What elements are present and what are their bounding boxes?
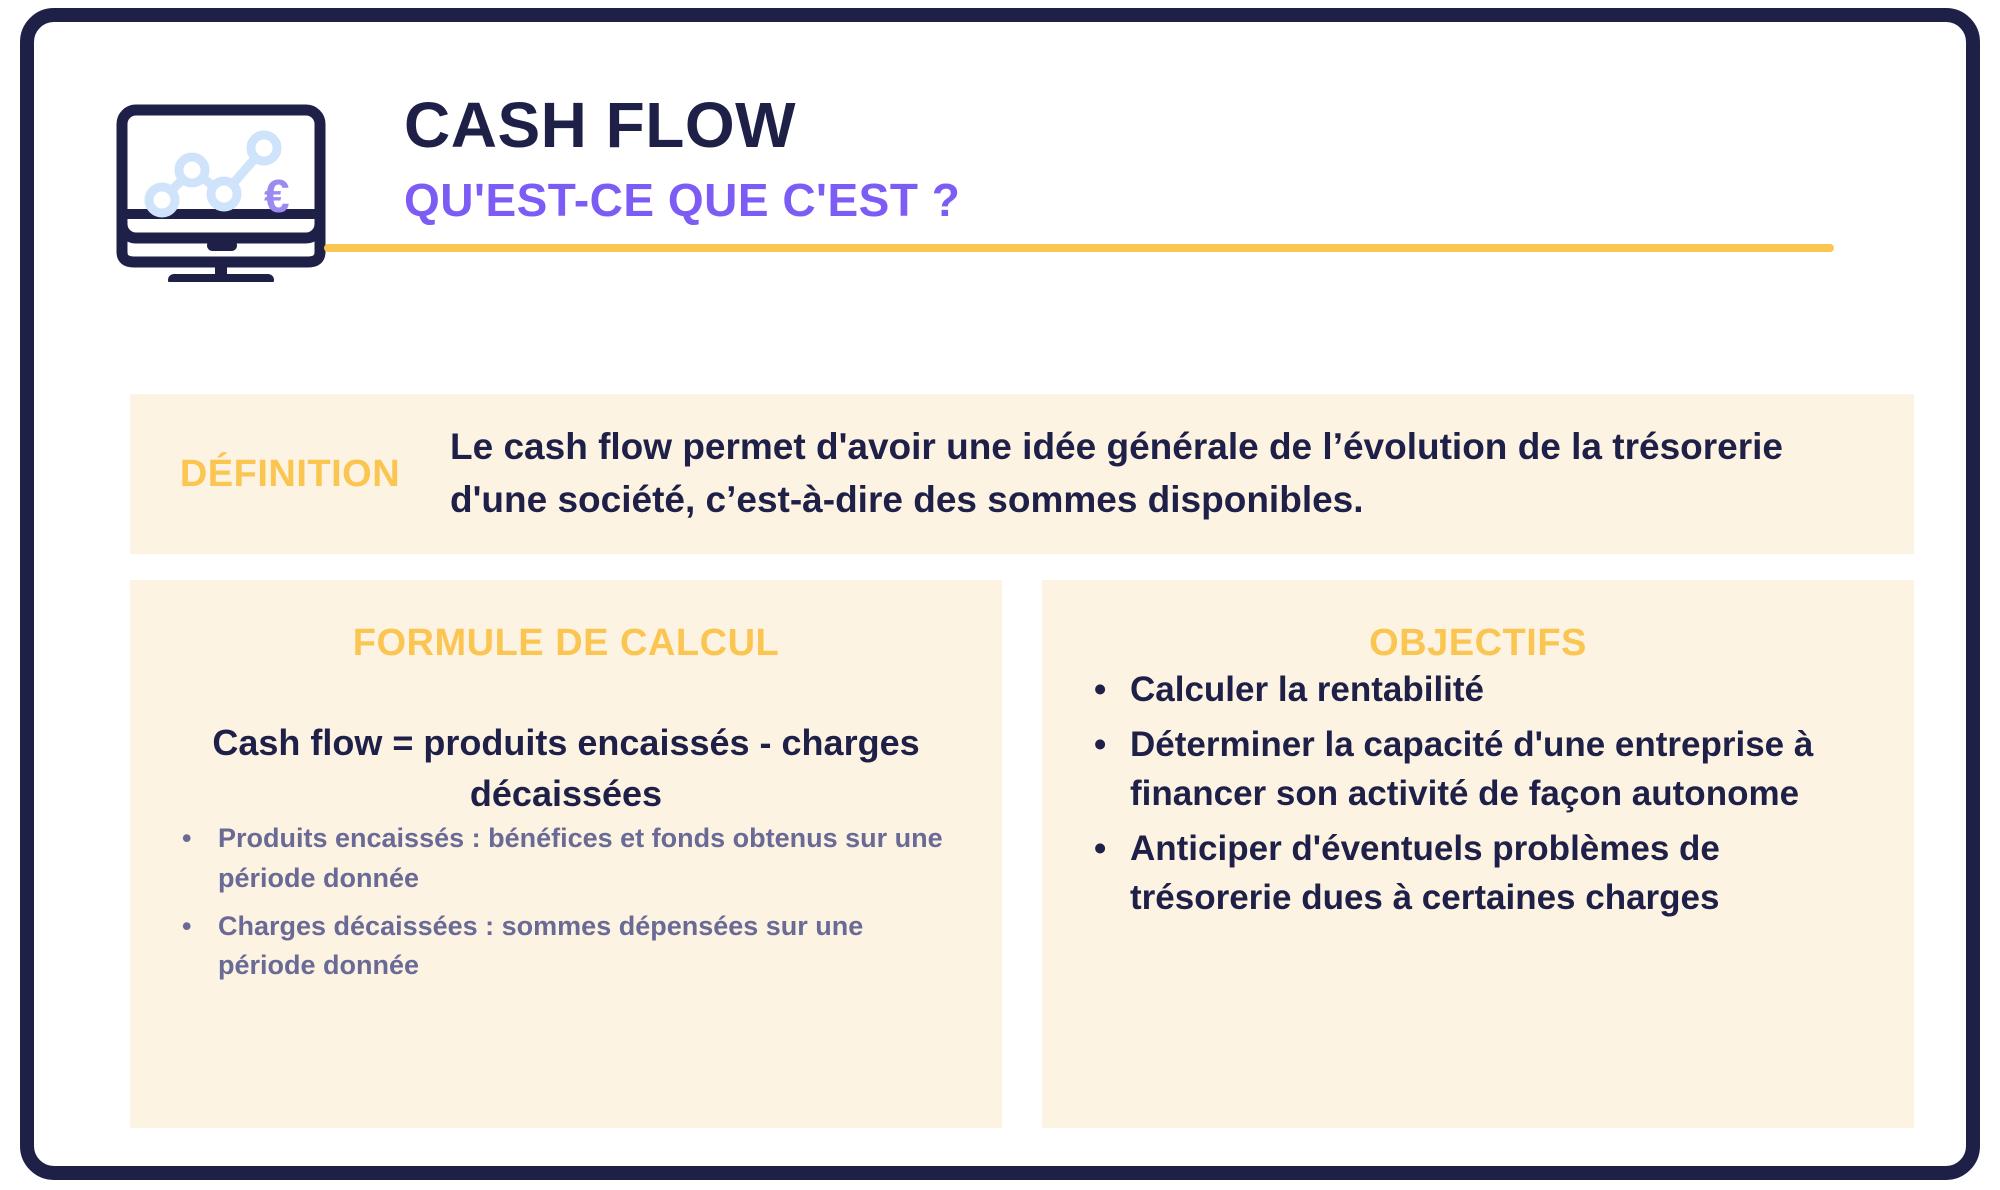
page-subtitle: QU'EST-CE QUE C'EST ? xyxy=(404,175,1914,226)
title-block: CASH FLOW QU'EST-CE QUE C'EST ? xyxy=(404,92,1914,226)
objectives-panel-title: OBJECTIFS xyxy=(1086,622,1870,665)
objectives-bullet-list: Calculer la rentabilité Déterminer la ca… xyxy=(1086,665,1870,922)
header-divider xyxy=(324,244,1834,252)
objectives-panel: OBJECTIFS Calculer la rentabilité Déterm… xyxy=(1042,580,1914,1128)
infographic-card: € CASH FLOW QU'EST-CE QUE C'EST ? DÉFINI… xyxy=(20,8,1980,1180)
definition-panel: DÉFINITION Le cash flow permet d'avoir u… xyxy=(130,394,1914,554)
header: € CASH FLOW QU'EST-CE QUE C'EST ? xyxy=(114,92,1914,282)
monitor-chart-euro-icon: € xyxy=(114,102,344,282)
list-item: Déterminer la capacité d'une entreprise … xyxy=(1086,720,1870,818)
svg-text:€: € xyxy=(264,170,290,222)
list-item: Anticiper d'éventuels problèmes de tréso… xyxy=(1086,824,1870,922)
formula-panel-title: FORMULE DE CALCUL xyxy=(174,622,958,665)
definition-label: DÉFINITION xyxy=(130,453,450,496)
formula-text: Cash flow = produits encaissés - charges… xyxy=(174,717,958,819)
list-item: Produits encaissés : bénéfices et fonds … xyxy=(174,819,958,898)
list-item: Calculer la rentabilité xyxy=(1086,665,1870,714)
definition-text: Le cash flow permet d'avoir une idée gén… xyxy=(450,421,1914,526)
formula-panel: FORMULE DE CALCUL Cash flow = produits e… xyxy=(130,580,1002,1128)
content-columns: FORMULE DE CALCUL Cash flow = produits e… xyxy=(130,580,1914,1128)
list-item: Charges décaissées : sommes dépensées su… xyxy=(174,907,958,986)
formula-bullet-list: Produits encaissés : bénéfices et fonds … xyxy=(174,819,958,986)
page-title: CASH FLOW xyxy=(404,92,1914,159)
